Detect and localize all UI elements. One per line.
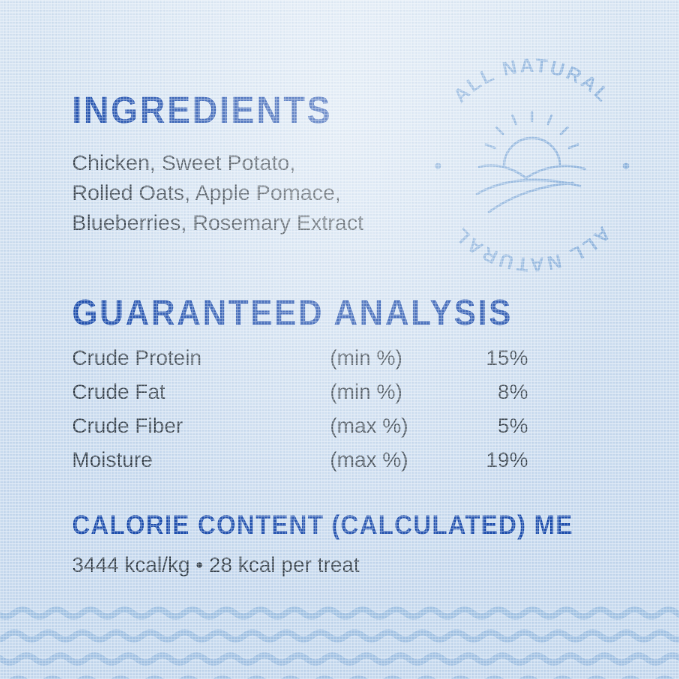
table-row: Crude Fat (min %) 8% xyxy=(72,381,528,415)
nutrient-name: Crude Fat xyxy=(72,381,330,405)
calorie-content-detail: 3444 kcal/kg • 28 kcal per treat xyxy=(72,551,360,581)
table-row: Crude Protein (min %) 15% xyxy=(72,347,528,381)
badge-separator-dot-left xyxy=(435,163,441,169)
nutrient-name: Crude Fiber xyxy=(72,415,330,439)
badge-bottom-text: ALL NATURAL xyxy=(449,222,614,275)
nutrient-qualifier: (max %) xyxy=(330,415,450,439)
guaranteed-analysis-table: Crude Protein (min %) 15% Crude Fat (min… xyxy=(72,347,528,483)
nutrient-amount: 8% xyxy=(450,381,528,405)
ingredients-list: Chicken, Sweet Potato, Rolled Oats, Appl… xyxy=(72,148,364,238)
ingredients-line: Rolled Oats, Apple Pomace, xyxy=(72,178,364,208)
sunrise-over-hills-icon xyxy=(477,112,585,212)
calorie-content-heading: CALORIE CONTENT (CALCULATED) ME xyxy=(72,512,573,539)
nutrient-amount: 19% xyxy=(450,449,528,473)
nutrient-qualifier: (min %) xyxy=(330,381,450,405)
product-label: ALL NATURAL ALL NATURAL xyxy=(0,0,679,679)
nutrient-amount: 5% xyxy=(450,415,528,439)
all-natural-badge: ALL NATURAL ALL NATURAL xyxy=(432,66,632,266)
nutrient-qualifier: (min %) xyxy=(330,347,450,371)
ingredients-line: Blueberries, Rosemary Extract xyxy=(72,208,364,238)
badge-separator-dot-right xyxy=(623,163,629,169)
table-row: Moisture (max %) 19% xyxy=(72,449,528,483)
table-row: Crude Fiber (max %) 5% xyxy=(72,415,528,449)
nutrient-name: Crude Protein xyxy=(72,347,330,371)
badge-top-text: ALL NATURAL xyxy=(449,55,615,108)
guaranteed-analysis-heading: GUARANTEED ANALYSIS xyxy=(72,295,513,331)
ingredients-line: Chicken, Sweet Potato, xyxy=(72,148,364,178)
nutrient-amount: 15% xyxy=(450,347,528,371)
nutrient-qualifier: (max %) xyxy=(330,449,450,473)
ingredients-heading: INGREDIENTS xyxy=(72,92,332,130)
nutrient-name: Moisture xyxy=(72,449,330,473)
